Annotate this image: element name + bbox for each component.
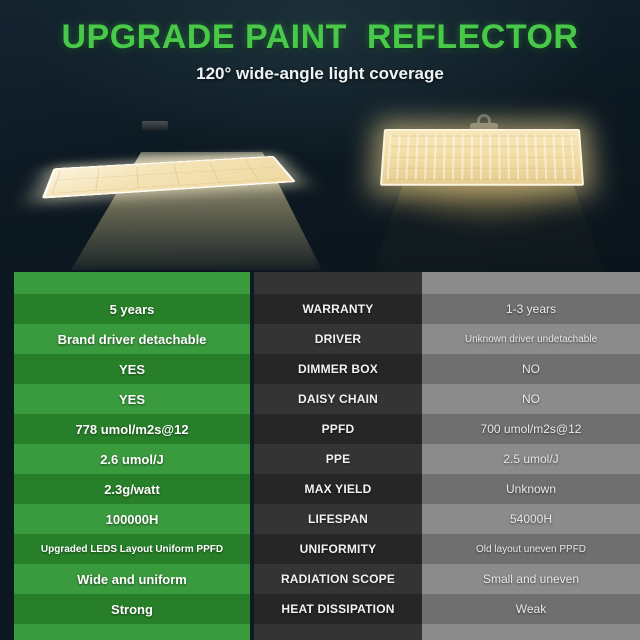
- attribute-driver: DRIVER: [254, 324, 422, 354]
- attribute-warranty: WARRANTY: [254, 294, 422, 324]
- ours-cell-ppfd: 778 umol/m2s@12: [14, 414, 250, 444]
- theirs-cell-warranty: 1-3 years: [422, 294, 640, 324]
- ours-cell-warranty: 5 years: [14, 294, 250, 324]
- attribute-heat-dissipation: HEAT DISSIPATION: [254, 594, 422, 624]
- column-top-spacer: [254, 272, 422, 294]
- theirs-cell-driver: Unknown driver undetachable: [422, 324, 640, 354]
- theirs-cell-dimmer-box: NO: [422, 354, 640, 384]
- column-top-spacer: [14, 272, 250, 294]
- attribute-radiation-scope: RADIATION SCOPE: [254, 564, 422, 594]
- column-bottom-fill: [14, 624, 250, 640]
- attribute-ppe: PPE: [254, 444, 422, 474]
- page-subtitle: 120° wide-angle light coverage: [0, 64, 640, 84]
- theirs-cell-max-yield: Unknown: [422, 474, 640, 504]
- hero-banner: UPGRADE PAINT REFLECTOR 120° wide-angle …: [0, 0, 640, 272]
- ours-cell-radiation-scope: Wide and uniform: [14, 564, 250, 594]
- attribute-uniformity: UNIFORMITY: [254, 534, 422, 564]
- theirs-cell-daisy-chain: NO: [422, 384, 640, 414]
- page-title: UPGRADE PAINT REFLECTOR: [0, 18, 640, 57]
- ours-cell-lifespan: 100000H: [14, 504, 250, 534]
- ours-cell-max-yield: 2.3g/watt: [14, 474, 250, 504]
- column-bottom-fill: [254, 624, 422, 640]
- led-panel-right-image: [380, 129, 584, 186]
- theirs-cell-radiation-scope: Small and uneven: [422, 564, 640, 594]
- theirs-cell-ppe: 2.5 umol/J: [422, 444, 640, 474]
- column-top-spacer: [422, 272, 640, 294]
- comparison-column-ours: 5 years Brand driver detachable YES YES …: [14, 272, 250, 640]
- comparison-column-theirs: 1-3 years Unknown driver undetachable NO…: [422, 272, 640, 640]
- attribute-dimmer-box: DIMMER BOX: [254, 354, 422, 384]
- comparison-table: 5 years Brand driver detachable YES YES …: [0, 272, 640, 640]
- theirs-cell-lifespan: 54000H: [422, 504, 640, 534]
- ours-cell-driver: Brand driver detachable: [14, 324, 250, 354]
- theirs-cell-heat-dissipation: Weak: [422, 594, 640, 624]
- attribute-ppfd: PPFD: [254, 414, 422, 444]
- attribute-max-yield: MAX YIELD: [254, 474, 422, 504]
- attribute-lifespan: LIFESPAN: [254, 504, 422, 534]
- theirs-cell-uniformity: Old layout uneven PPFD: [422, 534, 640, 564]
- column-bottom-fill: [422, 624, 640, 640]
- ours-cell-uniformity: Upgraded LEDS Layout Uniform PPFD: [14, 534, 250, 564]
- comparison-column-attributes: WARRANTY DRIVER DIMMER BOX DAISY CHAIN P…: [254, 272, 422, 640]
- led-panel-right-diodes: [387, 135, 578, 180]
- ours-cell-dimmer-box: YES: [14, 354, 250, 384]
- led-panel-right-face: [380, 129, 584, 186]
- panel-mount-left-icon: [142, 121, 168, 130]
- ours-cell-ppe: 2.6 umol/J: [14, 444, 250, 474]
- ours-cell-daisy-chain: YES: [14, 384, 250, 414]
- theirs-cell-ppfd: 700 umol/m2s@12: [422, 414, 640, 444]
- title-block: UPGRADE PAINT REFLECTOR 120° wide-angle …: [0, 18, 640, 84]
- attribute-daisy-chain: DAISY CHAIN: [254, 384, 422, 414]
- ours-cell-heat-dissipation: Strong: [14, 594, 250, 624]
